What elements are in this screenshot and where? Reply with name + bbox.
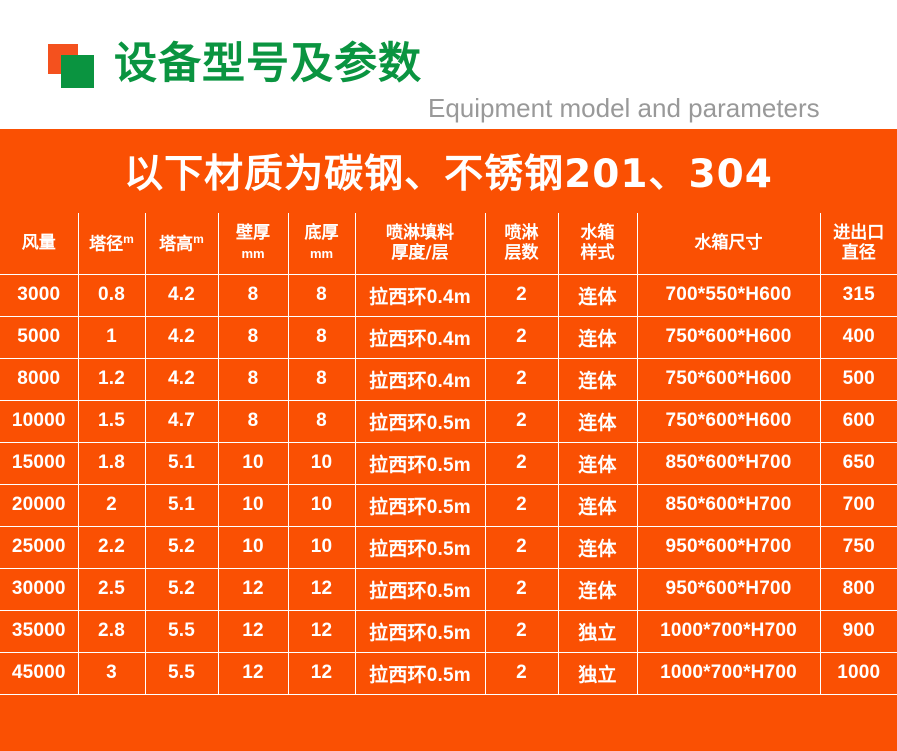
- table-cell: 650: [820, 442, 897, 484]
- table-cell: 拉西环0.5m: [355, 484, 485, 526]
- table-cell: 700*550*H600: [637, 274, 820, 316]
- table-cell: 10: [218, 442, 288, 484]
- table-cell: 2: [485, 358, 558, 400]
- table-cell: 10000: [0, 400, 78, 442]
- column-header-label: 风量: [22, 233, 56, 253]
- table-cell: 5.2: [145, 568, 218, 610]
- column-header-tower-diameter: 塔径m: [78, 213, 145, 274]
- table-cell: 8: [218, 358, 288, 400]
- table-cell: 连体: [558, 484, 637, 526]
- table-cell: 12: [218, 568, 288, 610]
- column-header-tank-style: 水箱 样式: [558, 213, 637, 274]
- table-row: 150001.85.11010拉西环0.5m2连体850*600*H700650: [0, 442, 897, 484]
- table-cell: 连体: [558, 316, 637, 358]
- column-header-unit: mm: [241, 246, 264, 261]
- table-cell: 750*600*H600: [637, 400, 820, 442]
- table-cell: 拉西环0.5m: [355, 610, 485, 652]
- column-header-wall-thickness: 壁厚 mm: [218, 213, 288, 274]
- table-cell: 5.2: [145, 526, 218, 568]
- table-cell: 5.5: [145, 610, 218, 652]
- table-row: 80001.24.288拉西环0.4m2连体750*600*H600500: [0, 358, 897, 400]
- table-cell: 850*600*H700: [637, 442, 820, 484]
- table-row: 250002.25.21010拉西环0.5m2连体950*600*H700750: [0, 526, 897, 568]
- table-cell: 12: [218, 652, 288, 694]
- column-header-unit: 层数: [505, 243, 539, 263]
- table-cell: 独立: [558, 610, 637, 652]
- table-cell: 12: [288, 652, 355, 694]
- page-subtitle: Equipment model and parameters: [428, 95, 820, 129]
- table-cell: 1000*700*H700: [637, 652, 820, 694]
- column-header-label: 塔高: [159, 234, 193, 254]
- table-cell: 5000: [0, 316, 78, 358]
- table-cell: 拉西环0.4m: [355, 316, 485, 358]
- table-cell: 4.2: [145, 274, 218, 316]
- table-cell: 1000: [820, 652, 897, 694]
- table-cell: 10: [288, 526, 355, 568]
- table-cell: 4.2: [145, 358, 218, 400]
- table-cell: 10: [288, 442, 355, 484]
- table-cell: 连体: [558, 568, 637, 610]
- table-cell: 700: [820, 484, 897, 526]
- table-row: 500014.288拉西环0.4m2连体750*600*H600400: [0, 316, 897, 358]
- page-root: 设备型号及参数 Equipment model and parameters 以…: [0, 0, 897, 751]
- table-cell: 2.8: [78, 610, 145, 652]
- table-cell: 拉西环0.5m: [355, 568, 485, 610]
- table-cell: 1000*700*H700: [637, 610, 820, 652]
- table-cell: 拉西环0.4m: [355, 274, 485, 316]
- table-cell: 15000: [0, 442, 78, 484]
- table-cell: 连体: [558, 400, 637, 442]
- table-cell: 45000: [0, 652, 78, 694]
- logo-green-square-icon: [61, 55, 94, 88]
- table-cell: 拉西环0.5m: [355, 652, 485, 694]
- table-cell: 600: [820, 400, 897, 442]
- table-cell: 2: [485, 526, 558, 568]
- table-cell: 独立: [558, 652, 637, 694]
- table-cell: 拉西环0.4m: [355, 358, 485, 400]
- table-row: 350002.85.51212拉西环0.5m2独立1000*700*H70090…: [0, 610, 897, 652]
- table-cell: 5.1: [145, 442, 218, 484]
- column-header-label: 壁厚: [236, 223, 270, 243]
- table-cell: 4.2: [145, 316, 218, 358]
- column-header-unit: m: [193, 232, 204, 246]
- table-cell: 1.8: [78, 442, 145, 484]
- table-cell: 连体: [558, 274, 637, 316]
- table-cell: 25000: [0, 526, 78, 568]
- column-header-label: 喷淋: [505, 223, 539, 243]
- column-header-unit: 样式: [581, 243, 615, 263]
- table-row: 30000.84.288拉西环0.4m2连体700*550*H600315: [0, 274, 897, 316]
- table-cell: 2: [485, 442, 558, 484]
- table-cell: 8: [218, 274, 288, 316]
- table-row: 300002.55.21212拉西环0.5m2连体950*600*H700800: [0, 568, 897, 610]
- table-cell: 1: [78, 316, 145, 358]
- table-cell: 0.8: [78, 274, 145, 316]
- table-cell: 8: [288, 400, 355, 442]
- table-cell: 连体: [558, 526, 637, 568]
- table-cell: 拉西环0.5m: [355, 442, 485, 484]
- section-header: 设备型号及参数 Equipment model and parameters: [0, 0, 897, 129]
- table-cell: 850*600*H700: [637, 484, 820, 526]
- table-cell: 10: [218, 484, 288, 526]
- column-header-bottom-thickness: 底厚 mm: [288, 213, 355, 274]
- table-cell: 750*600*H600: [637, 316, 820, 358]
- bottom-fill: [0, 695, 897, 743]
- table-cell: 315: [820, 274, 897, 316]
- table-cell: 连体: [558, 358, 637, 400]
- table-cell: 10: [288, 484, 355, 526]
- table-cell: 30000: [0, 568, 78, 610]
- table-cell: 1.5: [78, 400, 145, 442]
- column-header-tower-height: 塔高m: [145, 213, 218, 274]
- table-header: 风量 塔径m 塔高m 壁厚 mm 底厚 mm: [0, 213, 897, 274]
- column-header-label: 水箱: [581, 223, 615, 243]
- table-cell: 5.1: [145, 484, 218, 526]
- column-header-label: 进出口: [833, 223, 884, 243]
- table-cell: 950*600*H700: [637, 526, 820, 568]
- column-header-unit: mm: [310, 246, 333, 261]
- table-header-row: 风量 塔径m 塔高m 壁厚 mm 底厚 mm: [0, 213, 897, 274]
- table-cell: 3: [78, 652, 145, 694]
- table-cell: 2: [485, 484, 558, 526]
- table-row: 4500035.51212拉西环0.5m2独立1000*700*H7001000: [0, 652, 897, 694]
- table-cell: 8: [288, 274, 355, 316]
- column-header-spray-layers: 喷淋 层数: [485, 213, 558, 274]
- table-cell: 750*600*H600: [637, 358, 820, 400]
- table-cell: 8: [218, 400, 288, 442]
- table-cell: 2: [485, 400, 558, 442]
- table-cell: 12: [218, 610, 288, 652]
- table-cell: 2: [485, 652, 558, 694]
- column-header-label: 水箱尺寸: [695, 233, 763, 253]
- specification-table: 风量 塔径m 塔高m 壁厚 mm 底厚 mm: [0, 213, 897, 695]
- column-header-label: 喷淋填料: [386, 223, 454, 243]
- table-cell: 2: [78, 484, 145, 526]
- material-banner: 以下材质为碳钢、不锈钢201、304: [0, 129, 897, 213]
- table-cell: 连体: [558, 442, 637, 484]
- column-header-spray-packing-thickness: 喷淋填料 厚度/层: [355, 213, 485, 274]
- column-header-label: 底厚: [305, 223, 339, 243]
- table-cell: 12: [288, 610, 355, 652]
- table-cell: 3000: [0, 274, 78, 316]
- table-cell: 35000: [0, 610, 78, 652]
- table-cell: 500: [820, 358, 897, 400]
- table-cell: 8: [288, 358, 355, 400]
- table-cell: 20000: [0, 484, 78, 526]
- table-cell: 5.5: [145, 652, 218, 694]
- table-cell: 950*600*H700: [637, 568, 820, 610]
- column-header-inlet-outlet-diameter: 进出口 直径: [820, 213, 897, 274]
- table-cell: 1.2: [78, 358, 145, 400]
- table-cell: 2.5: [78, 568, 145, 610]
- table-cell: 8: [218, 316, 288, 358]
- table-body: 30000.84.288拉西环0.4m2连体700*550*H600315500…: [0, 274, 897, 694]
- table-cell: 12: [288, 568, 355, 610]
- table-cell: 8000: [0, 358, 78, 400]
- orange-content-panel: 以下材质为碳钢、不锈钢201、304 风量 塔径m 塔高m: [0, 129, 897, 751]
- table-cell: 拉西环0.5m: [355, 526, 485, 568]
- table-cell: 2: [485, 316, 558, 358]
- table-cell: 2.2: [78, 526, 145, 568]
- table-cell: 10: [218, 526, 288, 568]
- column-header-unit: m: [123, 232, 134, 246]
- column-header-air-volume: 风量: [0, 213, 78, 274]
- table-cell: 750: [820, 526, 897, 568]
- column-header-unit: 直径: [842, 243, 876, 263]
- table-cell: 拉西环0.5m: [355, 400, 485, 442]
- column-header-tank-size: 水箱尺寸: [637, 213, 820, 274]
- table-cell: 2: [485, 274, 558, 316]
- table-cell: 8: [288, 316, 355, 358]
- column-header-unit: 厚度/层: [391, 243, 448, 263]
- table-row: 2000025.11010拉西环0.5m2连体850*600*H700700: [0, 484, 897, 526]
- table-row: 100001.54.788拉西环0.5m2连体750*600*H600600: [0, 400, 897, 442]
- table-cell: 800: [820, 568, 897, 610]
- table-cell: 400: [820, 316, 897, 358]
- table-cell: 4.7: [145, 400, 218, 442]
- table-cell: 900: [820, 610, 897, 652]
- column-header-label: 塔径: [89, 234, 123, 254]
- page-title: 设备型号及参数: [114, 43, 422, 86]
- logo-mark-icon: [48, 42, 104, 88]
- table-cell: 2: [485, 610, 558, 652]
- table-cell: 2: [485, 568, 558, 610]
